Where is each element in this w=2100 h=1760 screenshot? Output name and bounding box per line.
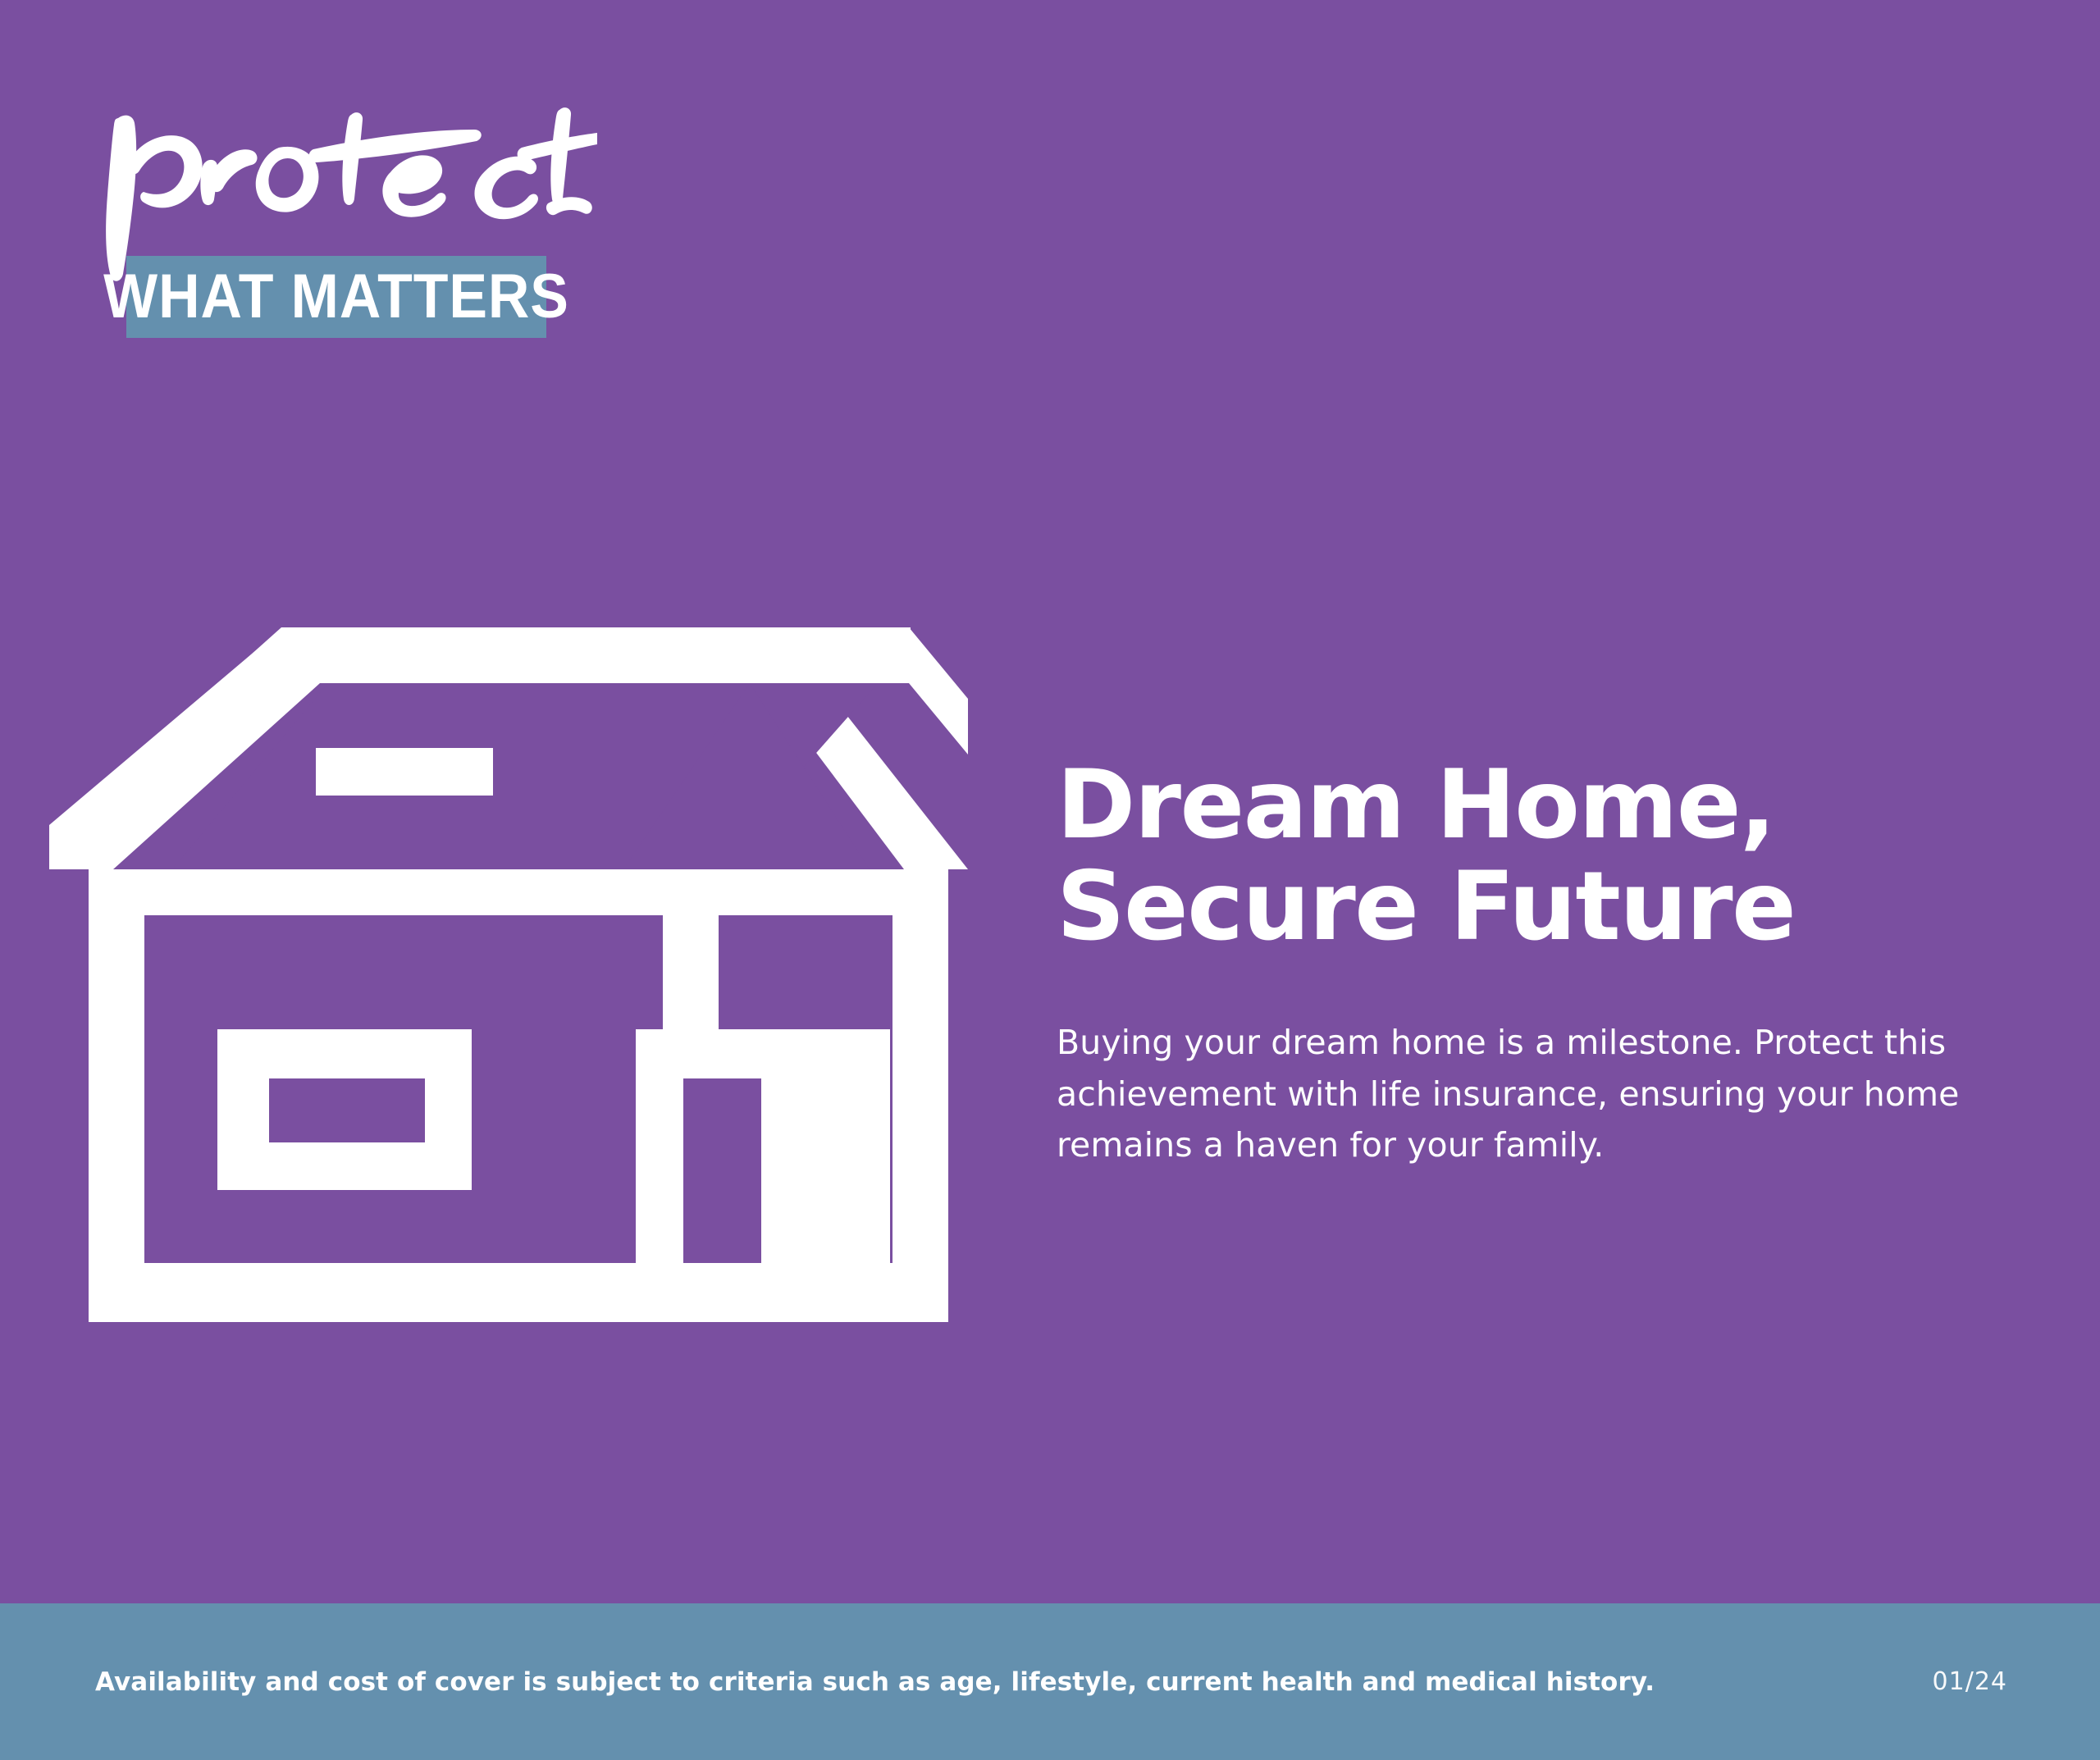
main-content: Dream Home, Secure Future Buying your dr…	[1057, 755, 2025, 1170]
footer-disclaimer: Availability and cost of cover is subjec…	[95, 1667, 1655, 1697]
slide-canvas: WHAT MATTERS	[0, 0, 2100, 1760]
body-paragraph: Buying your dream home is a milestone. P…	[1057, 1017, 1992, 1170]
brand-logo: WHAT MATTERS	[89, 79, 597, 349]
page-number: 01/24	[1933, 1667, 2007, 1696]
house-icon	[49, 599, 968, 1337]
page-title: Dream Home, Secure Future	[1057, 755, 2025, 958]
logo-subtitle-label: WHAT MATTERS	[143, 256, 529, 338]
logo-script-protect	[89, 79, 597, 284]
footer-bar: Availability and cost of cover is subjec…	[0, 1603, 2100, 1760]
